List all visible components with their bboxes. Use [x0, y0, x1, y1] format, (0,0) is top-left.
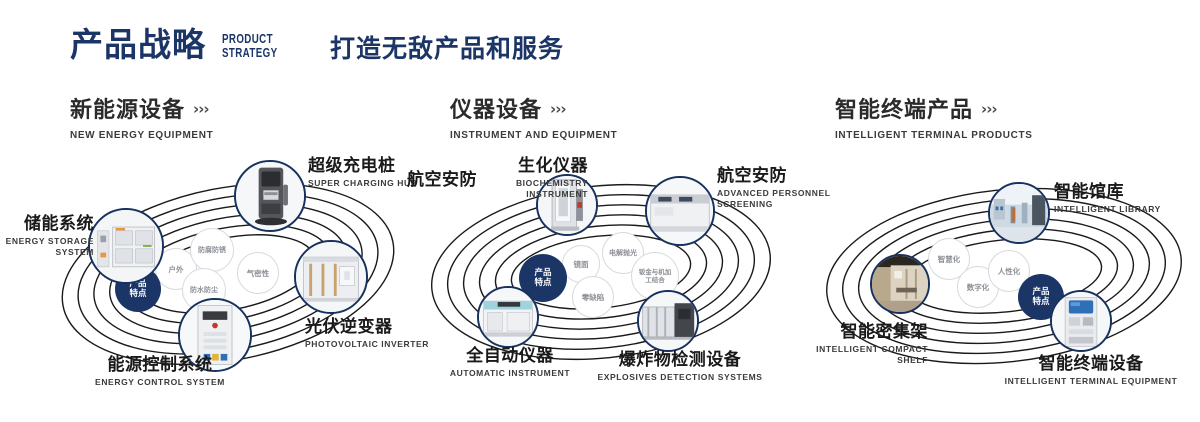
node-label-en-line1: INTELLIGENT LIBRARY [1054, 204, 1161, 215]
section-title-text: 智能终端产品 [835, 98, 973, 123]
node-label-cn: 能源控制系统 [60, 355, 260, 375]
feature-bubble: 零缺陷 [572, 276, 614, 318]
section-title-text: 仪器设备 [450, 98, 542, 123]
section-title-cn: 新能源设备››› [70, 96, 221, 124]
feature-label: 人性化 [992, 267, 1026, 276]
node-label-en-line1: INTELLIGENT COMPACT [780, 344, 928, 355]
label-automatic-instrument: 全自动仪器 AUTOMATIC INSTRUMENT [425, 346, 595, 379]
node-photovoltaic-inverter[interactable] [294, 240, 368, 314]
node-advanced-personnel-screening[interactable] [645, 176, 715, 246]
compact-shelf-photo [872, 256, 928, 312]
node-intelligent-terminal-equipment[interactable] [1050, 290, 1112, 352]
page-subtitle: 打造无敌产品和服务 [330, 36, 564, 61]
chevron-right-icons: ››› [981, 96, 997, 122]
node-explosives-detection-systems[interactable] [637, 290, 699, 352]
node-label-cn: 智能馆库 [1054, 182, 1161, 202]
feature-label: 数字化 [961, 283, 995, 292]
feature-label: 镜面 [574, 260, 589, 269]
label-energy-control-system: 能源控制系统 ENERGY CONTROL SYSTEM [60, 355, 260, 388]
node-intelligent-compact-shelf[interactable] [870, 254, 930, 314]
page-title-en-line1: PRODUCT [222, 32, 277, 46]
section-title-cn: 仪器设备››› [450, 96, 626, 124]
node-label-cn: 爆炸物检测设备 [585, 350, 775, 370]
feature-label: 零缺陷 [578, 293, 608, 302]
photovoltaic-inverter-photo [296, 242, 366, 312]
label-biochemistry-instrument: 生化仪器 BIOCHEMISTRY INSTRUMENT [468, 156, 588, 200]
node-label-en-line1: BIOCHEMISTRY [468, 178, 588, 189]
node-label-cn: 智能密集架 [780, 322, 928, 342]
node-label-cn: 储能系统 [2, 214, 94, 234]
node-label-en-line1: ENERGY STORAGE [2, 236, 94, 247]
label-energy-storage-system: 储能系统 ENERGY STORAGE SYSTEM [2, 214, 94, 258]
energy-storage-photo [90, 210, 162, 282]
chevron-right-icons: ››› [550, 96, 566, 122]
terminal-equipment-photo [1052, 292, 1110, 350]
core-bubble-label: 产品 特点 [1032, 287, 1049, 307]
label-intelligent-compact-shelf: 智能密集架 INTELLIGENT COMPACT SHELF [780, 322, 928, 366]
node-automatic-instrument[interactable] [477, 286, 539, 348]
explosives-detection-photo [639, 292, 697, 350]
section-title-intelligent-terminal: 智能终端产品››› INTELLIGENT TERMINAL PRODUCTS [835, 96, 1043, 142]
automatic-instrument-photo [479, 288, 537, 346]
node-label-cn: 生化仪器 [468, 156, 588, 176]
node-label-cn: 超级充电桩 [308, 156, 418, 176]
node-label-en-line2: SYSTEM [2, 247, 94, 258]
node-label-en-line2: INSTRUMENT [468, 189, 588, 200]
section-title-en: INTELLIGENT TERMINAL PRODUCTS [835, 128, 1033, 142]
node-label-cn: 全自动仪器 [425, 346, 595, 366]
chevron-right-icons: ››› [193, 96, 209, 122]
label-intelligent-library: 智能馆库 INTELLIGENT LIBRARY [1054, 182, 1161, 215]
node-label-en-line1: ENERGY CONTROL SYSTEM [60, 377, 260, 388]
node-label-en-line1: EXPLOSIVES DETECTION SYSTEMS [585, 372, 775, 383]
node-intelligent-library[interactable] [988, 182, 1050, 244]
node-label-cn: 航空安防 [407, 170, 477, 190]
section-title-text: 新能源设备 [70, 98, 185, 123]
product-strategy-infographic: 产品战略 PRODUCT STRATEGY 打造无敌产品和服务 新能源设备›››… [0, 0, 1200, 422]
feature-label: 钣金与机加工结合 [638, 268, 672, 284]
page-title-en: PRODUCT STRATEGY [222, 32, 277, 60]
intelligent-library-photo [990, 184, 1048, 242]
cluster-intelligent-terminal: 智慧化 数字化 人性化 产品 特点 [800, 150, 1200, 400]
feature-bubble: 防腐防锈 [190, 228, 234, 272]
feature-label: 气密性 [241, 269, 275, 278]
section-title-en: NEW ENERGY EQUIPMENT [70, 128, 213, 142]
core-bubble-label: 产品 特点 [534, 268, 551, 288]
node-label-en-line1: SUPER CHARGING HUB [308, 178, 418, 189]
feature-label: 防水防尘 [189, 286, 219, 295]
label-aviation-security-left: 航空安防 [407, 170, 477, 190]
label-explosives-detection-systems: 爆炸物检测设备 EXPLOSIVES DETECTION SYSTEMS [585, 350, 775, 383]
cluster-new-energy: 户外 防腐防锈 防水防尘 气密性 产品 特点 [30, 150, 430, 400]
label-super-charging-hub: 超级充电桩 SUPER CHARGING HUB [308, 156, 418, 189]
feature-label: 智慧化 [932, 255, 966, 264]
section-title-en: INSTRUMENT AND EQUIPMENT [450, 128, 617, 142]
node-label-en-line2: SHELF [780, 355, 928, 366]
page-header: 产品战略 PRODUCT STRATEGY 打造无敌产品和服务 [0, 0, 1200, 88]
page-title-en-line2: STRATEGY [222, 46, 277, 60]
personnel-screening-photo [647, 178, 713, 244]
section-title-cn: 智能终端产品››› [835, 96, 1043, 124]
section-title-new-energy: 新能源设备››› NEW ENERGY EQUIPMENT [70, 96, 221, 142]
node-energy-storage-system[interactable] [88, 208, 164, 284]
cluster-instrument: 镜面 电解抛光 零缺陷 钣金与机加工结合 产品 特点 [405, 150, 805, 400]
node-super-charging-hub[interactable] [234, 160, 306, 232]
node-label-cn: 智能终端设备 [996, 354, 1186, 374]
feature-label: 户外 [169, 265, 184, 274]
charging-hub-photo [236, 162, 304, 230]
label-intelligent-terminal-equipment: 智能终端设备 INTELLIGENT TERMINAL EQUIPMENT [996, 354, 1186, 387]
section-title-instrument: 仪器设备››› INSTRUMENT AND EQUIPMENT [450, 96, 626, 142]
feature-label: 电解抛光 [609, 249, 637, 258]
page-title-cn: 产品战略 [70, 28, 206, 61]
node-label-en-line1: INTELLIGENT TERMINAL EQUIPMENT [996, 376, 1186, 387]
feature-label: 防腐防锈 [197, 246, 227, 255]
feature-bubble: 气密性 [237, 252, 279, 294]
node-label-en-line1: AUTOMATIC INSTRUMENT [425, 368, 595, 379]
